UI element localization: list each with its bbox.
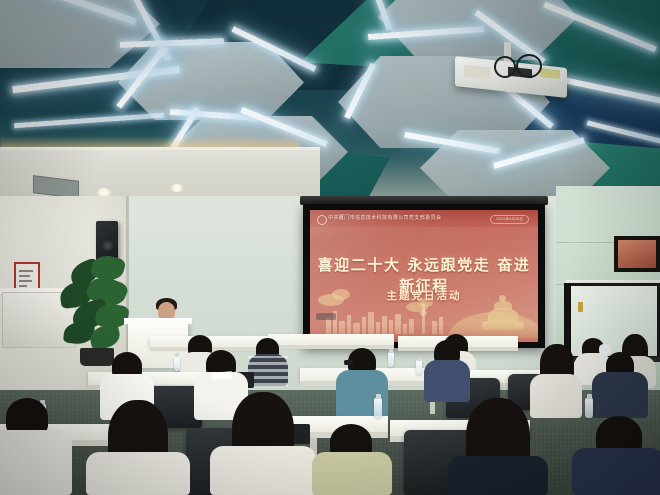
projector-cable <box>516 54 542 78</box>
bottle-cap <box>587 394 592 399</box>
bottle-cap <box>389 349 393 353</box>
desk <box>268 334 394 345</box>
desk-edge <box>268 345 394 349</box>
projection-screen[interactable]: 中共厦门市信息技术科技有限公司党支部委员会 2022年9月28日 <box>303 204 545 348</box>
presentation-slide: 中共厦门市信息技术科技有限公司党支部委员会 2022年9月28日 <box>310 210 538 342</box>
whiteboard-marker[interactable] <box>578 302 583 312</box>
speaker-cone-icon <box>102 240 113 251</box>
water-bottle <box>416 360 422 375</box>
plant-pot <box>80 348 114 366</box>
wall-artwork <box>614 236 660 272</box>
projector-cable <box>494 56 516 78</box>
water-bottle <box>388 352 394 367</box>
bottle-cap <box>417 357 421 361</box>
water-bottle <box>585 398 593 418</box>
led-strip <box>14 113 164 128</box>
downlight <box>170 184 184 192</box>
eyeglasses-icon <box>344 360 353 365</box>
bottle-cap <box>376 394 381 399</box>
bottle-cap <box>175 353 179 357</box>
meeting-room-photo: 中共厦门市信息技术科技有限公司党支部委员会 2022年9月28日 <box>0 0 660 495</box>
striped-shirt-pattern <box>248 356 288 386</box>
hex-panel-2 <box>0 0 160 68</box>
water-bottle <box>374 398 382 418</box>
water-bottle <box>174 356 180 371</box>
slide-glare <box>310 210 538 342</box>
